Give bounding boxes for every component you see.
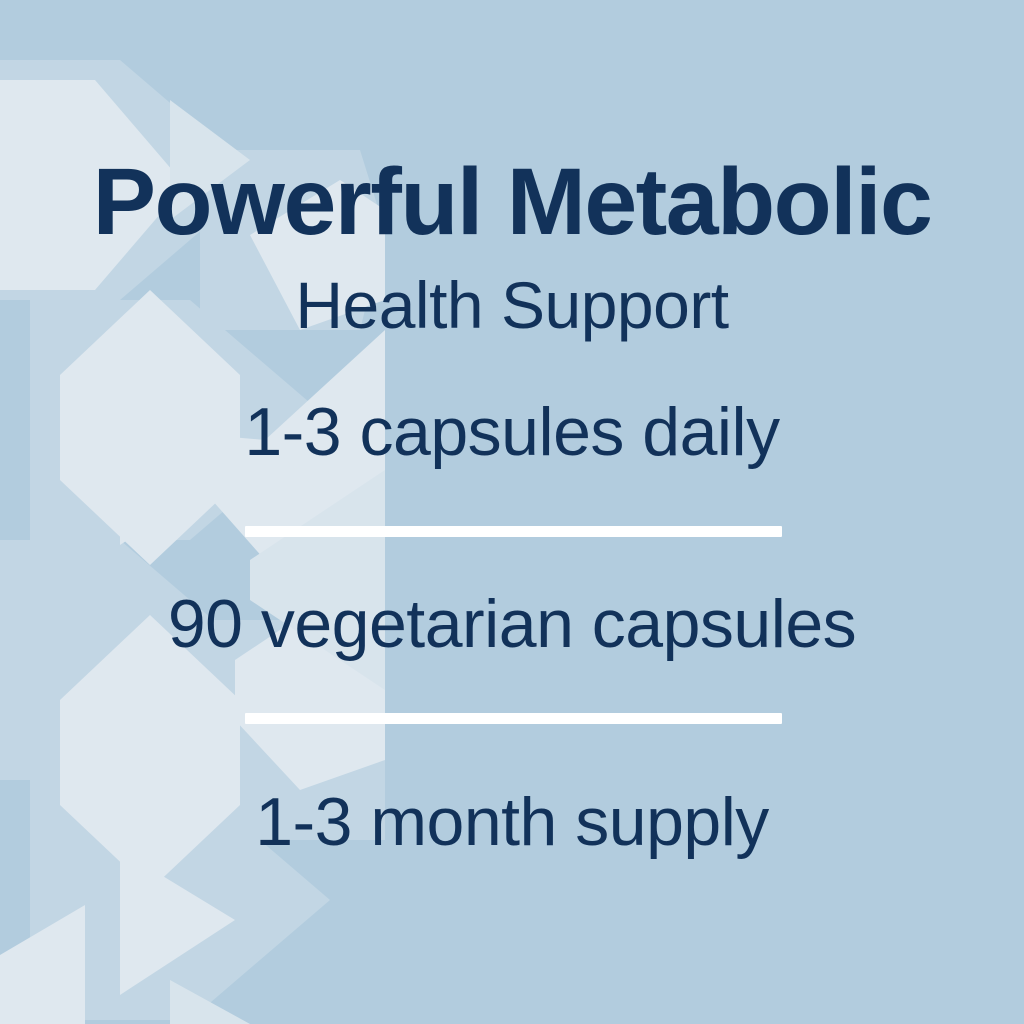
page-subtitle: Health Support <box>0 272 1024 338</box>
divider-rule-1 <box>245 526 782 537</box>
fact-dosage: 1-3 capsules daily <box>0 398 1024 466</box>
fact-supply: 1-3 month supply <box>0 788 1024 856</box>
fact-count: 90 vegetarian capsules <box>0 590 1024 658</box>
page-title: Powerful Metabolic <box>0 155 1024 250</box>
product-info-card: Powerful Metabolic Health Support 1-3 ca… <box>0 0 1024 1024</box>
card-content: Powerful Metabolic Health Support 1-3 ca… <box>0 0 1024 1024</box>
divider-rule-2 <box>245 713 782 724</box>
